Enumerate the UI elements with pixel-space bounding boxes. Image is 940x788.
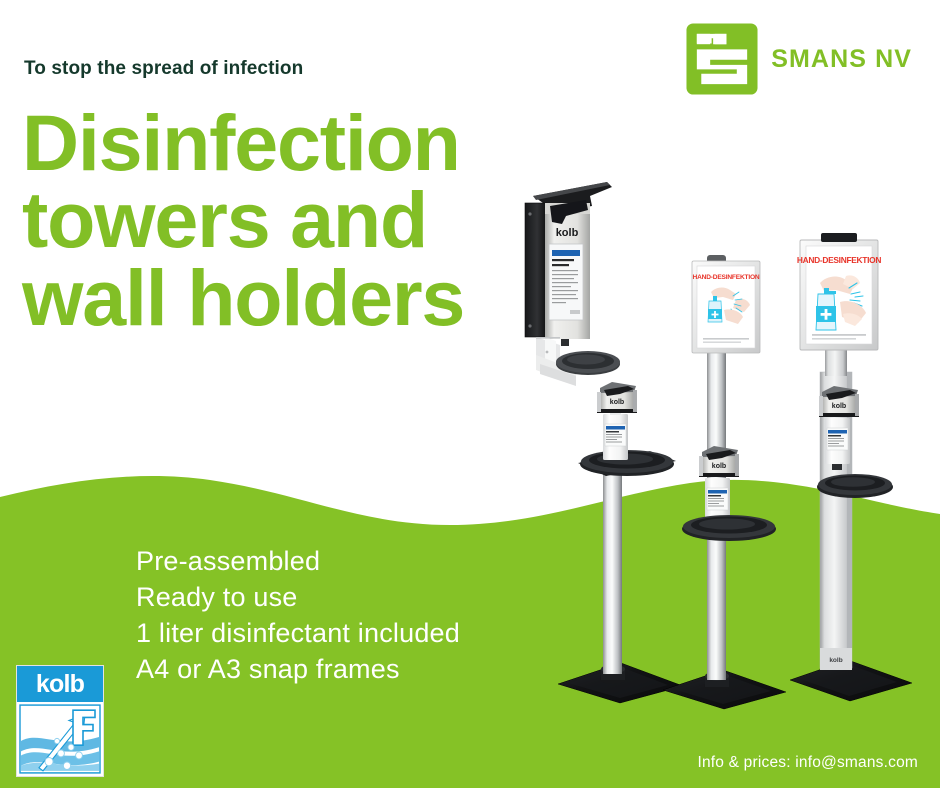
contact-info[interactable]: Info & prices: info@smans.com bbox=[697, 754, 918, 772]
smans-s-mark-icon bbox=[685, 22, 759, 96]
feature-item: 1 liter disinfectant included bbox=[136, 615, 460, 651]
feature-item: Ready to use bbox=[136, 579, 460, 615]
feature-list: Pre-assembled Ready to use 1 liter disin… bbox=[136, 543, 460, 687]
feature-item: A4 or A3 snap frames bbox=[136, 651, 460, 687]
kolb-logo-artwork bbox=[17, 702, 103, 776]
poster-canvas: To stop the spread of infection Disinfec… bbox=[0, 0, 940, 788]
smans-logo: SMANS NV bbox=[685, 22, 912, 96]
tagline: To stop the spread of infection bbox=[24, 58, 303, 80]
feature-item: Pre-assembled bbox=[136, 543, 460, 579]
kolb-logo: kolb bbox=[16, 665, 104, 777]
kolb-wordmark: kolb bbox=[36, 672, 84, 697]
kolb-wave-arrow-icon bbox=[17, 702, 103, 776]
kolb-logo-bar: kolb bbox=[17, 666, 103, 702]
brand-name: SMANS NV bbox=[771, 45, 912, 74]
headline-line-3: wall holders bbox=[22, 259, 464, 336]
headline-line-1: Disinfection bbox=[22, 104, 464, 181]
headline-line-2: towers and bbox=[22, 181, 464, 258]
page-title: Disinfection towers and wall holders bbox=[22, 104, 464, 336]
